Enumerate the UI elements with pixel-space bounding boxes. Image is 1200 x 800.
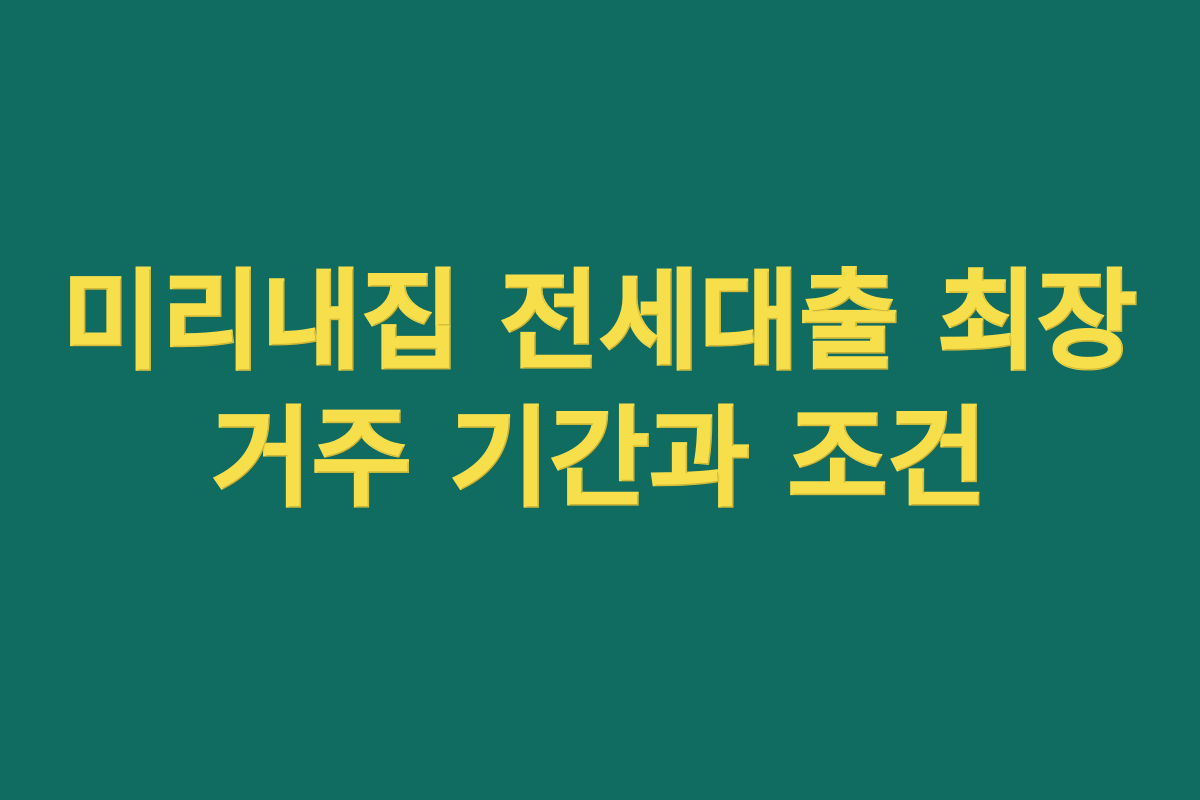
headline-block: 미리내집 전세대출 최장 거주 기간과 조건 — [0, 254, 1200, 528]
thumbnail-canvas: 미리내집 전세대출 최장 거주 기간과 조건 — [0, 0, 1200, 800]
headline-line-1: 미리내집 전세대출 최장 — [0, 254, 1200, 391]
headline-line-2: 거주 기간과 조건 — [0, 391, 1200, 528]
